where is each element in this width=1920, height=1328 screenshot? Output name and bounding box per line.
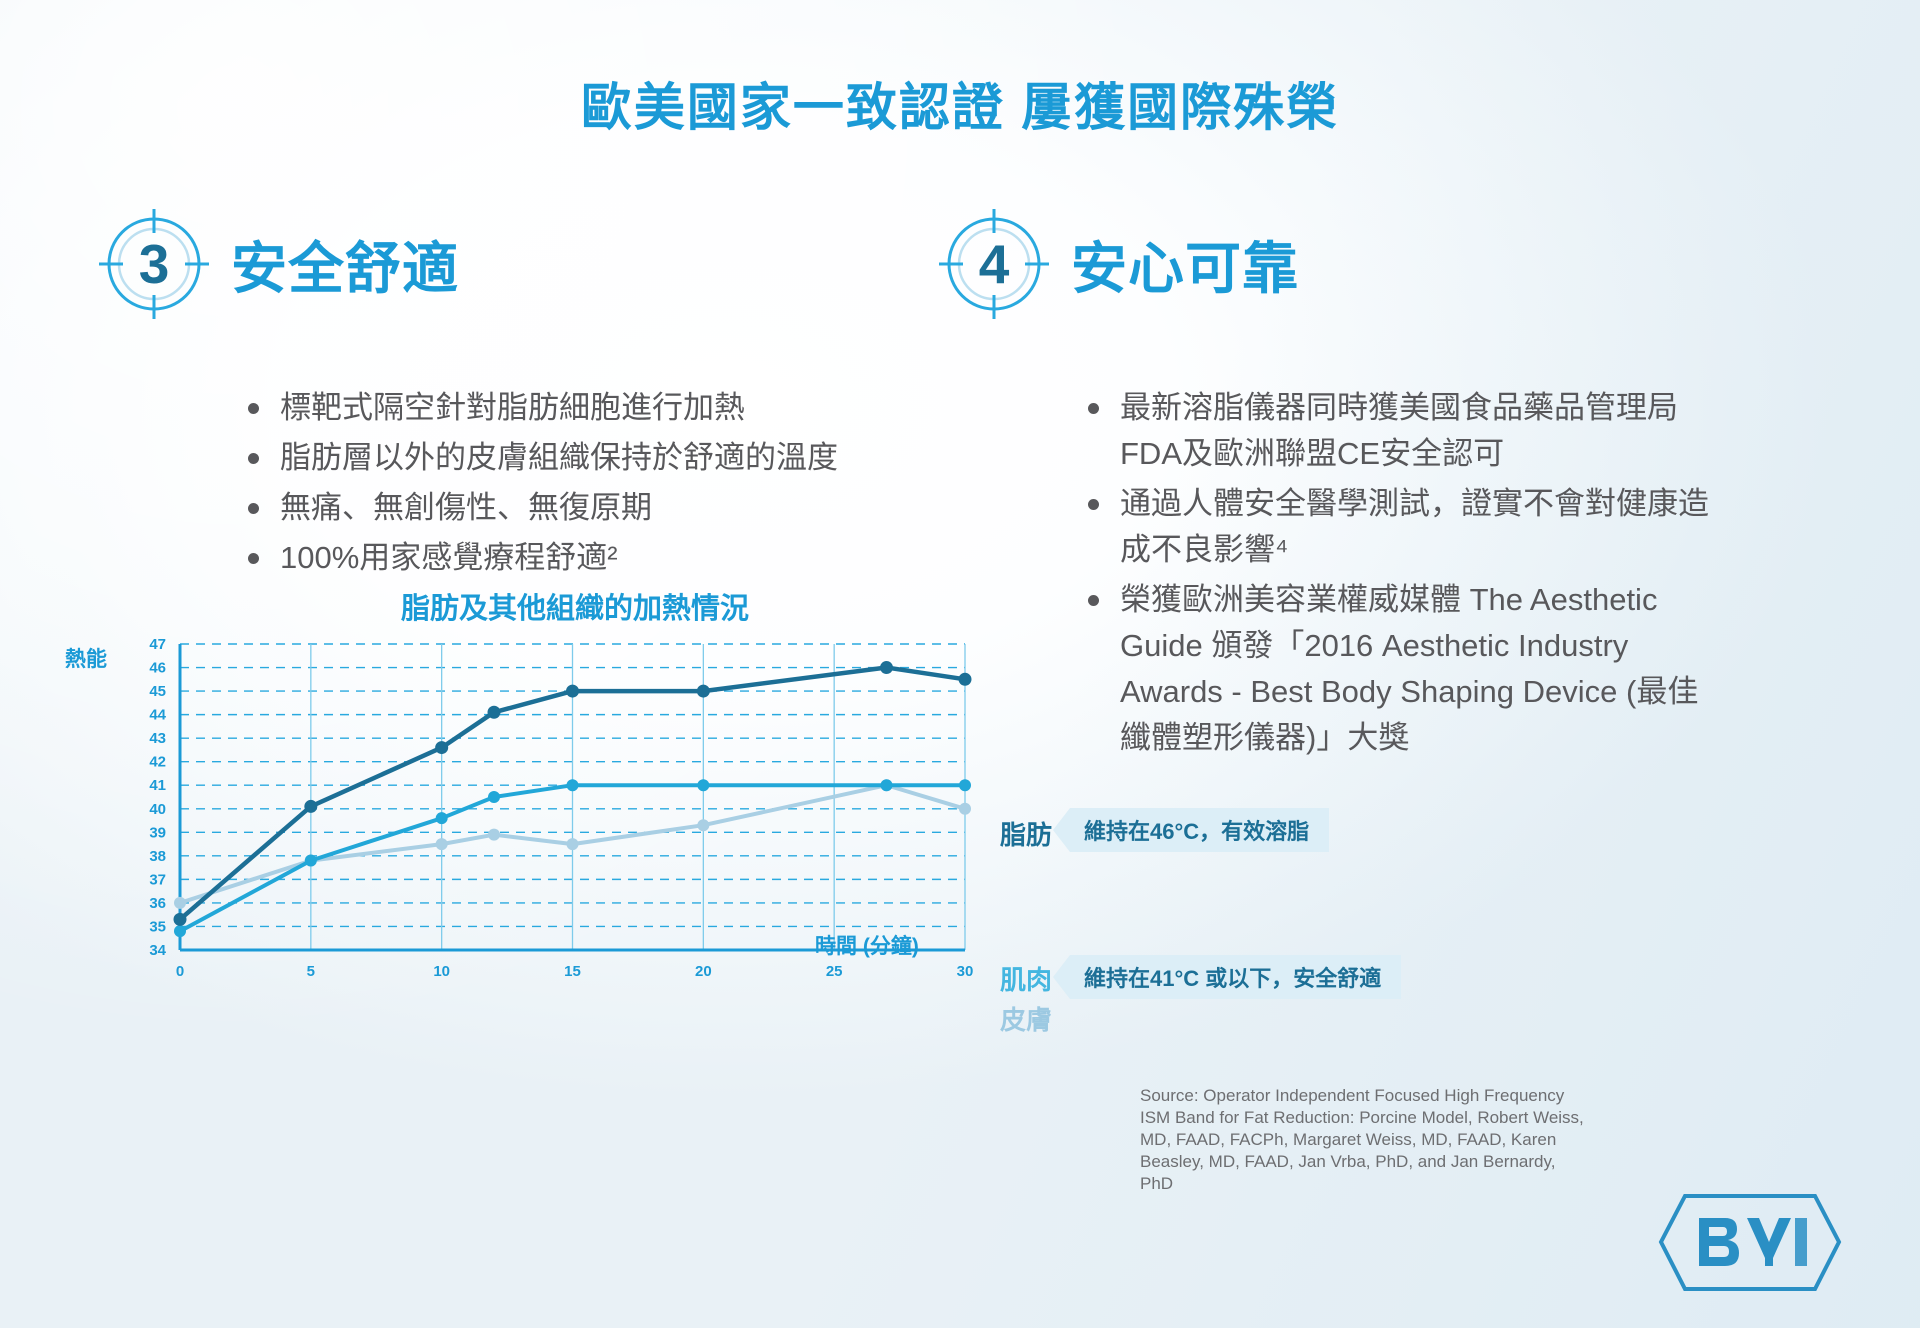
section-title-4: 安心可靠 <box>1071 224 1299 305</box>
target-crosshair-icon-4: 4 <box>935 205 1053 323</box>
svg-text:37: 37 <box>149 871 166 888</box>
svg-text:25: 25 <box>826 963 843 980</box>
chart-title: 脂肪及其他組織的加熱情況 <box>360 585 790 627</box>
heating-line-chart: 3435363738394041424344454647051015202530 <box>60 630 1120 1005</box>
section-number-3: 3 <box>95 205 213 323</box>
svg-text:41: 41 <box>149 777 166 794</box>
list-item: 100%用家感覺療程舒適² <box>240 535 840 581</box>
svg-text:46: 46 <box>149 660 166 677</box>
source-citation: Source: Operator Independent Focused Hig… <box>1140 1085 1590 1195</box>
list-item: 脂肪層以外的皮膚組織保持於舒適的溫度 <box>240 435 840 481</box>
list-item: 最新溶脂儀器同時獲美國食品藥品管理局FDA及歐洲聯盟CE安全認可 <box>1080 385 1720 477</box>
svg-text:42: 42 <box>149 754 166 771</box>
svg-text:0: 0 <box>176 963 184 980</box>
svg-text:40: 40 <box>149 801 166 818</box>
bullet-list-section-4: 最新溶脂儀器同時獲美國食品藥品管理局FDA及歐洲聯盟CE安全認可 通過人體安全醫… <box>1080 385 1720 765</box>
brand-logo <box>1655 1190 1845 1295</box>
bullet-list-section-3: 標靶式隔空針對脂肪細胞進行加熱 脂肪層以外的皮膚組織保持於舒適的溫度 無痛、無創… <box>240 385 840 585</box>
section-header-4: 4 安心可靠 <box>935 205 1299 323</box>
chart-tick-labels: 3435363738394041424344454647051015202530 <box>149 636 973 980</box>
svg-text:45: 45 <box>149 683 166 700</box>
page-title: 歐美國家一致認證 屢獲國際殊榮 <box>0 66 1920 140</box>
callout-fat: 維持在46°C，有效溶脂 <box>1070 808 1329 852</box>
list-item: 無痛、無創傷性、無復原期 <box>240 485 840 531</box>
svg-text:47: 47 <box>149 636 166 653</box>
section-title-3: 安全舒適 <box>231 224 459 305</box>
svg-text:35: 35 <box>149 918 166 935</box>
svg-text:38: 38 <box>149 848 166 865</box>
svg-text:15: 15 <box>564 963 581 980</box>
svg-text:39: 39 <box>149 824 166 841</box>
svg-text:36: 36 <box>149 895 166 912</box>
svg-text:43: 43 <box>149 730 166 747</box>
svg-text:34: 34 <box>149 942 166 959</box>
y-axis-label: 熱能 <box>65 643 107 673</box>
svg-text:20: 20 <box>695 963 712 980</box>
list-item: 標靶式隔空針對脂肪細胞進行加熱 <box>240 385 840 431</box>
svg-text:10: 10 <box>433 963 450 980</box>
list-item: 通過人體安全醫學測試，證實不會對健康造成不良影響⁴ <box>1080 481 1720 573</box>
svg-text:44: 44 <box>149 707 166 724</box>
target-crosshair-icon-3: 3 <box>95 205 213 323</box>
series-label-fat: 脂肪 <box>1000 815 1052 852</box>
chart-container: 脂肪及其他組織的加熱情況 343536373839404142434445464… <box>60 585 1120 1005</box>
x-axis-label: 時間 (分鐘) <box>815 930 919 960</box>
list-item: 榮獲歐洲美容業權威媒體 The Aesthetic Guide 頒發「2016 … <box>1080 577 1720 761</box>
series-label-muscle: 肌肉 <box>1000 960 1052 997</box>
svg-text:30: 30 <box>957 963 974 980</box>
callout-muscle: 維持在41°C 或以下，安全舒適 <box>1070 955 1401 999</box>
section-number-4: 4 <box>935 205 1053 323</box>
section-header-3: 3 安全舒適 <box>95 205 459 323</box>
svg-text:5: 5 <box>307 963 315 980</box>
series-label-skin: 皮膚 <box>1000 1000 1052 1037</box>
